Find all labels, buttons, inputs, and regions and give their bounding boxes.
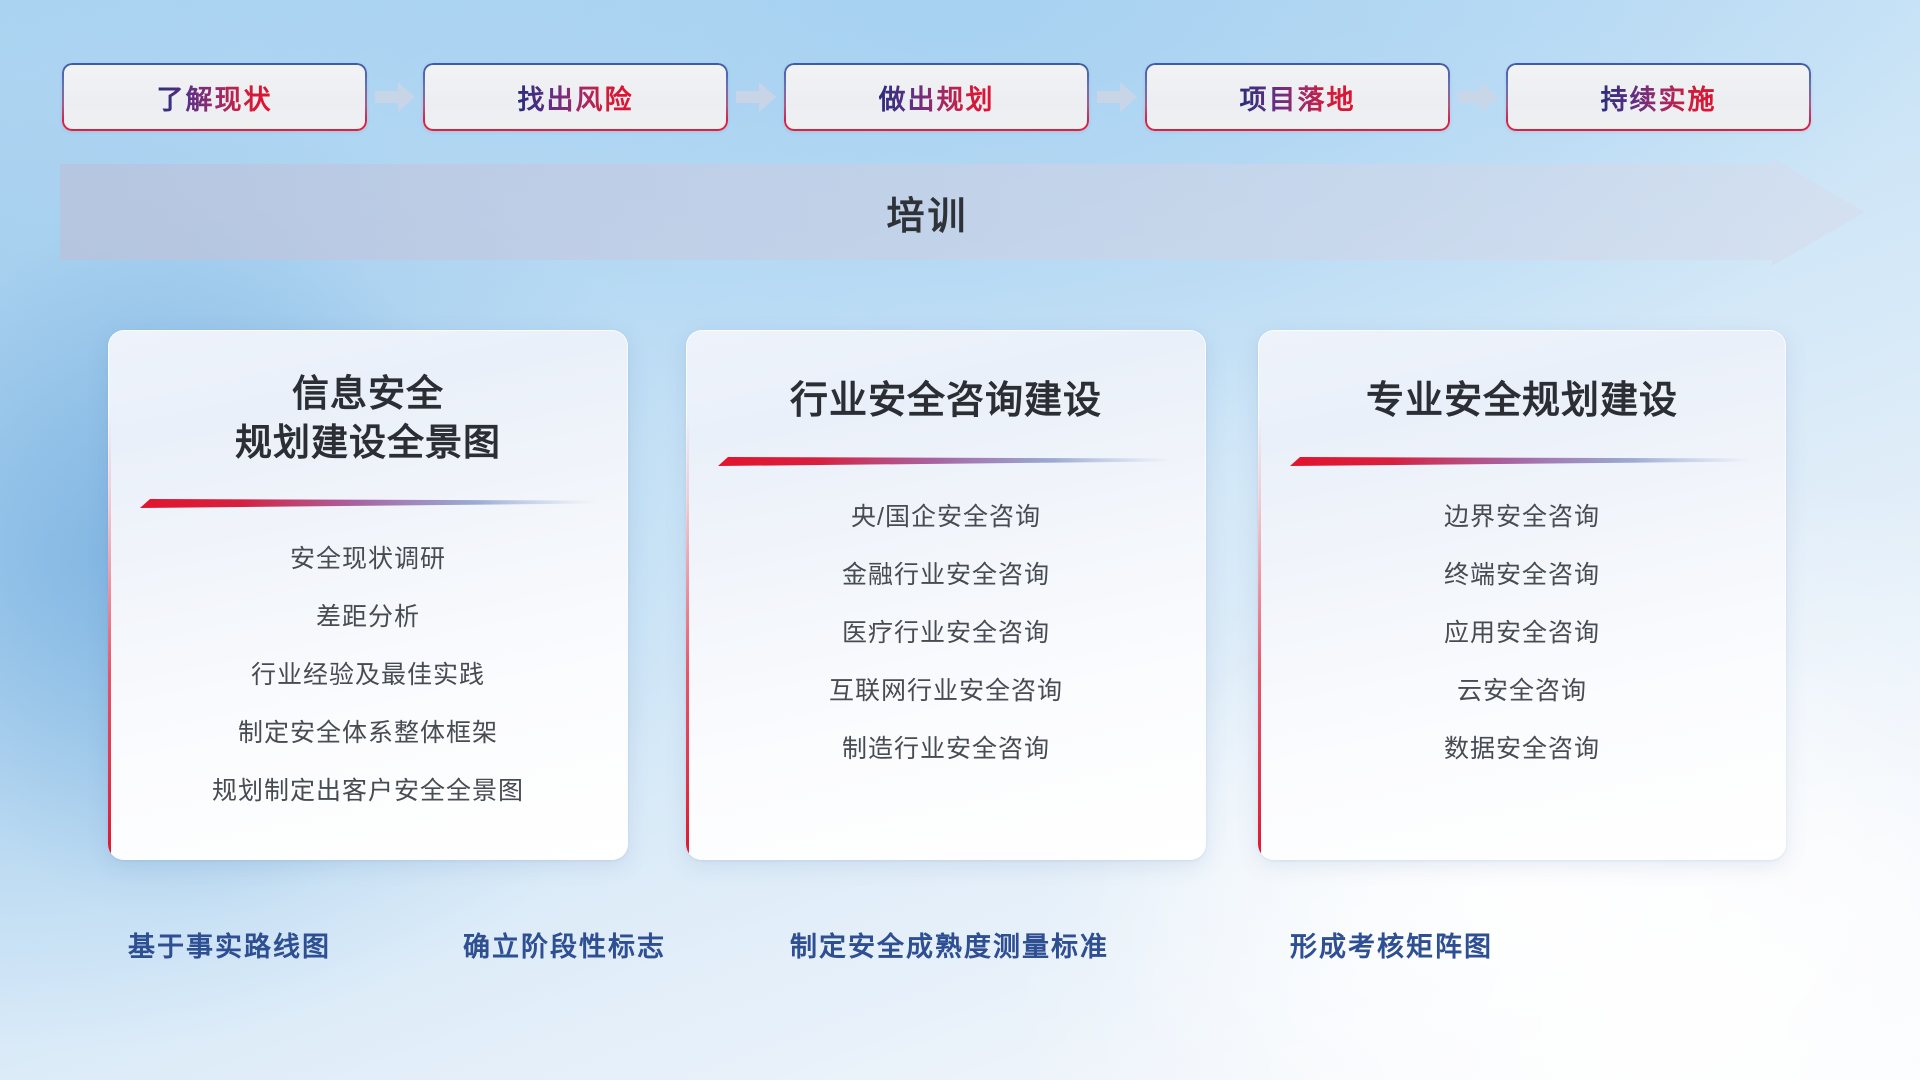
cards-row: 信息安全 规划建设全景图 xyxy=(0,330,1920,875)
list-item: 数据安全咨询 xyxy=(1282,720,1762,778)
chevron-right-arrow-icon xyxy=(1095,80,1139,114)
step-pill-3[interactable]: 做出规划 xyxy=(784,63,1089,131)
training-banner: 培训 xyxy=(60,158,1865,266)
card-title: 信息安全 规划建设全景图 xyxy=(108,330,628,468)
caption-milestone: 确立阶段性标志 xyxy=(463,925,666,964)
slide-canvas: 了解现状 找出风险 做出规划 项目落地 持续实施 xyxy=(0,0,1920,1080)
card-item-list: 边界安全咨询 终端安全咨询 应用安全咨询 云安全咨询 数据安全咨询 xyxy=(1258,488,1786,778)
list-item: 终端安全咨询 xyxy=(1282,546,1762,604)
process-steps-row: 了解现状 找出风险 做出规划 项目落地 持续实施 xyxy=(62,62,1862,132)
chevron-right-arrow-icon xyxy=(373,80,417,114)
card-title: 行业安全咨询建设 xyxy=(686,330,1206,426)
caption-assessment-matrix: 形成考核矩阵图 xyxy=(1290,925,1493,964)
card-item-list: 安全现状调研 差距分析 行业经验及最佳实践 制定安全体系整体框架 规划制定出客户… xyxy=(108,530,628,820)
card-left-accent-bar xyxy=(108,416,111,860)
list-item: 应用安全咨询 xyxy=(1282,604,1762,662)
list-item: 制定安全体系整体框架 xyxy=(132,704,604,762)
list-item: 互联网行业安全咨询 xyxy=(710,662,1182,720)
card-slot-1: 信息安全 规划建设全景图 xyxy=(108,330,628,875)
card-industry-security-consulting[interactable]: 行业安全咨询建设 xyxy=(686,330,1206,860)
list-item: 制造行业安全咨询 xyxy=(710,720,1182,778)
list-item: 央/国企安全咨询 xyxy=(710,488,1182,546)
footer-captions: 基于事实路线图 确立阶段性标志 制定安全成熟度测量标准 形成考核矩阵图 xyxy=(0,925,1920,973)
list-item: 行业经验及最佳实践 xyxy=(132,646,604,704)
card-professional-security-planning[interactable]: 专业安全规划建设 xyxy=(1258,330,1786,860)
card-title-line: 信息安全 xyxy=(138,370,598,419)
card-divider xyxy=(1290,452,1754,470)
step-pill-label: 做出规划 xyxy=(879,78,995,117)
chevron-right-arrow-icon xyxy=(734,80,778,114)
caption-maturity-standard: 制定安全成熟度测量标准 xyxy=(790,925,1109,964)
list-item: 安全现状调研 xyxy=(132,530,604,588)
card-left-accent-bar xyxy=(686,416,689,860)
list-item: 云安全咨询 xyxy=(1282,662,1762,720)
step-pill-label: 项目落地 xyxy=(1240,78,1356,117)
card-title-line: 规划建设全景图 xyxy=(138,419,598,468)
step-pill-label: 了解现状 xyxy=(157,78,273,117)
list-item: 规划制定出客户安全全景图 xyxy=(132,762,604,820)
step-pill-label: 找出风险 xyxy=(518,78,634,117)
card-left-accent-bar xyxy=(1258,416,1261,860)
step-pill-1[interactable]: 了解现状 xyxy=(62,63,367,131)
card-slot-2: 行业安全咨询建设 xyxy=(686,330,1206,875)
card-slot-3: 专业安全规划建设 xyxy=(1258,330,1786,875)
list-item: 边界安全咨询 xyxy=(1282,488,1762,546)
list-item: 金融行业安全咨询 xyxy=(710,546,1182,604)
step-pill-5[interactable]: 持续实施 xyxy=(1506,63,1811,131)
card-item-list: 央/国企安全咨询 金融行业安全咨询 医疗行业安全咨询 互联网行业安全咨询 制造行… xyxy=(686,488,1206,778)
step-pill-label: 持续实施 xyxy=(1601,78,1717,117)
training-banner-label: 培训 xyxy=(60,158,1865,266)
step-pill-4[interactable]: 项目落地 xyxy=(1145,63,1450,131)
list-item: 医疗行业安全咨询 xyxy=(710,604,1182,662)
card-title-line: 行业安全咨询建设 xyxy=(716,376,1176,426)
card-divider xyxy=(140,494,596,512)
card-information-security-panorama[interactable]: 信息安全 规划建设全景图 xyxy=(108,330,628,860)
caption-roadmap: 基于事实路线图 xyxy=(128,925,331,964)
step-pill-2[interactable]: 找出风险 xyxy=(423,63,728,131)
card-title-line: 专业安全规划建设 xyxy=(1288,376,1756,426)
list-item: 差距分析 xyxy=(132,588,604,646)
card-title: 专业安全规划建设 xyxy=(1258,330,1786,426)
card-divider xyxy=(718,452,1174,470)
chevron-right-arrow-icon xyxy=(1456,80,1500,114)
